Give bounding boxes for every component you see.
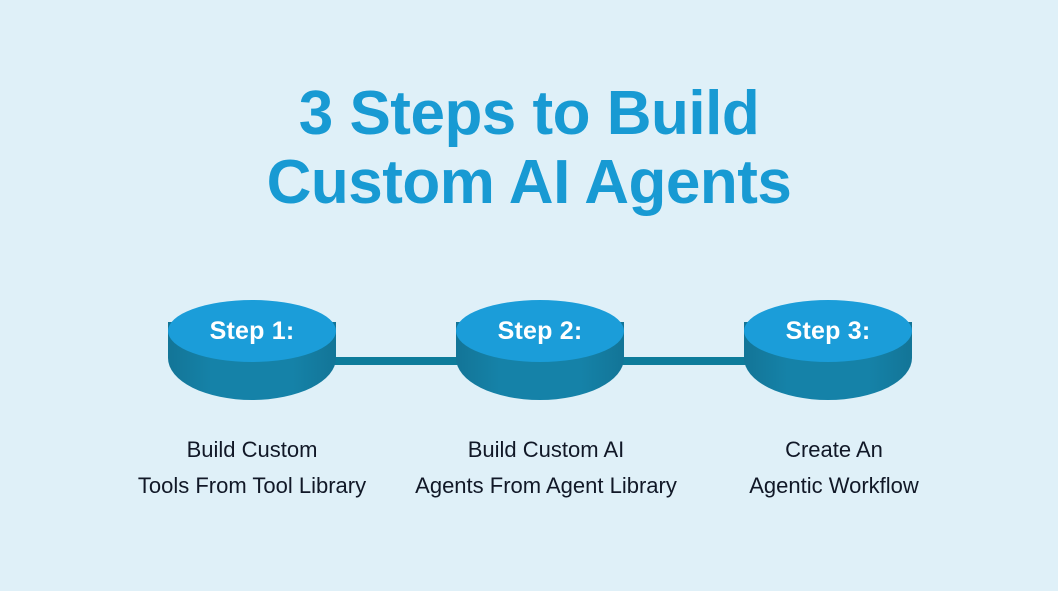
- title-line-1: 3 Steps to Build: [0, 82, 1058, 145]
- step-caption-3: Create An Agentic Workflow: [674, 432, 994, 504]
- step-caption-2-line-1: Build Custom AI: [386, 432, 706, 468]
- process-flow-diagram: Step 1: Step 2: Step 3:: [0, 300, 1058, 410]
- cylinder-top-3: [744, 300, 912, 362]
- step-caption-1: Build Custom Tools From Tool Library: [92, 432, 412, 504]
- step-captions: Build Custom Tools From Tool Library Bui…: [0, 432, 1058, 512]
- cylinder-top-2: [456, 300, 624, 362]
- title-line-2: Custom AI Agents: [0, 151, 1058, 214]
- step-caption-1-line-2: Tools From Tool Library: [92, 468, 412, 504]
- step-caption-2: Build Custom AI Agents From Agent Librar…: [386, 432, 706, 504]
- infographic-canvas: 3 Steps to Build Custom AI Agents Step 1…: [0, 0, 1058, 591]
- step-node-3[interactable]: Step 3:: [744, 300, 912, 404]
- step-caption-3-line-1: Create An: [674, 432, 994, 468]
- step-node-2[interactable]: Step 2:: [456, 300, 624, 404]
- step-caption-3-line-2: Agentic Workflow: [674, 468, 994, 504]
- cylinder-top-1: [168, 300, 336, 362]
- step-caption-2-line-2: Agents From Agent Library: [386, 468, 706, 504]
- connector-step2-step3: [608, 357, 766, 365]
- step-node-1[interactable]: Step 1:: [168, 300, 336, 404]
- connector-step1-step2: [318, 357, 478, 365]
- page-title: 3 Steps to Build Custom AI Agents: [0, 82, 1058, 214]
- step-caption-1-line-1: Build Custom: [92, 432, 412, 468]
